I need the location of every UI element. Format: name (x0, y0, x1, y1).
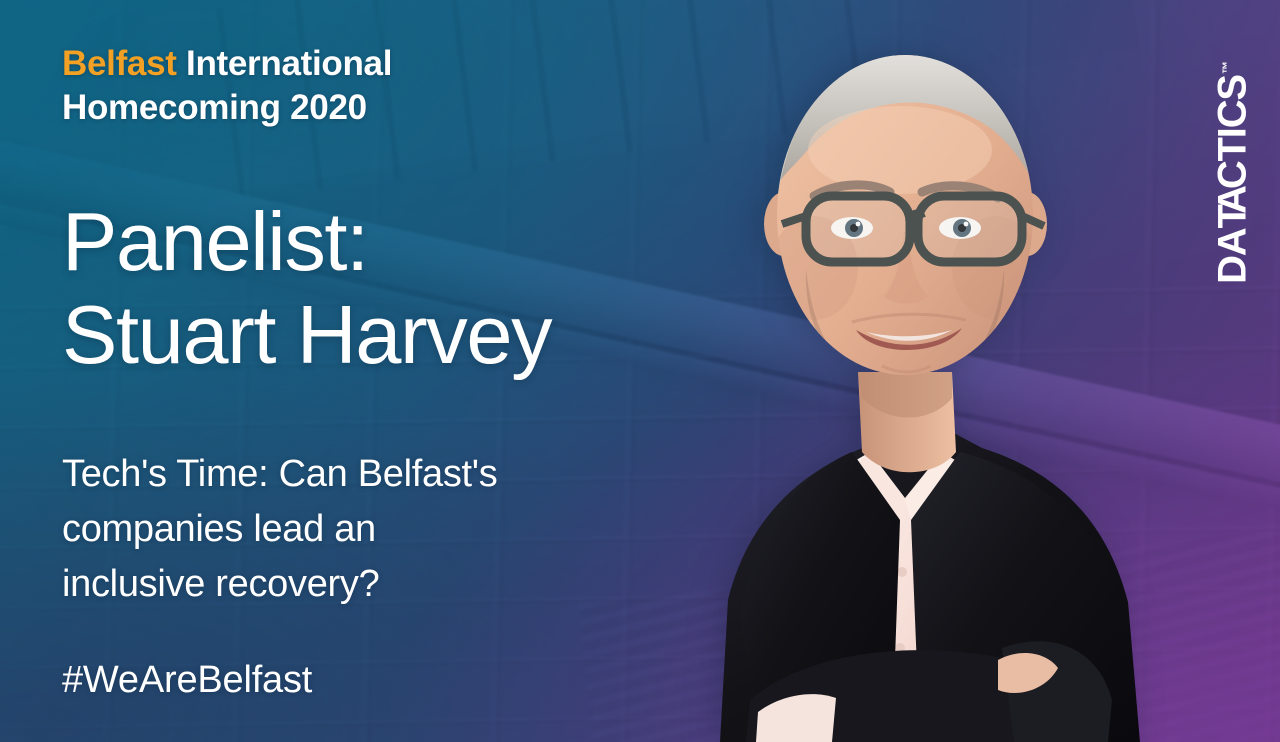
lens-left (806, 196, 910, 262)
glasses-bridge (910, 214, 922, 219)
shirt-button-1 (897, 567, 907, 577)
promo-card: Belfast International Homecoming 2020 Pa… (0, 0, 1280, 742)
event-title-line2: Homecoming 2020 (62, 88, 367, 127)
subhead-line-3: inclusive recovery? (62, 557, 602, 612)
headline-line-1: Panelist: (62, 195, 368, 288)
logo-wordmark: DATACTICS™ (1211, 61, 1255, 284)
trademark-icon: ™ (1219, 61, 1234, 74)
subhead-line-1: Tech's Time: Can Belfast's (62, 447, 602, 502)
page-title: Panelist: Stuart Harvey (62, 196, 682, 382)
logo-part-1: DA (1211, 229, 1255, 284)
forehead-highlight (808, 106, 992, 194)
lens-right (918, 196, 1022, 262)
text-content: Belfast International Homecoming 2020 Pa… (62, 0, 682, 742)
headline-line-2: Stuart Harvey (62, 289, 682, 382)
session-description: Tech's Time: Can Belfast's companies lea… (62, 447, 602, 612)
logo-part-2: CTICS (1211, 75, 1255, 189)
hashtag: #WeAreBelfast (62, 658, 312, 704)
event-title: Belfast International Homecoming 2020 (62, 42, 662, 131)
datactics-logo: DATACTICS™ (1190, 10, 1276, 340)
logo-ligature-ta: TA (1211, 192, 1255, 228)
speaker-portrait (600, 0, 1220, 742)
event-title-rest: International (177, 44, 393, 83)
subhead-line-2: companies lead an (62, 502, 602, 557)
event-title-highlight: Belfast (62, 44, 177, 83)
